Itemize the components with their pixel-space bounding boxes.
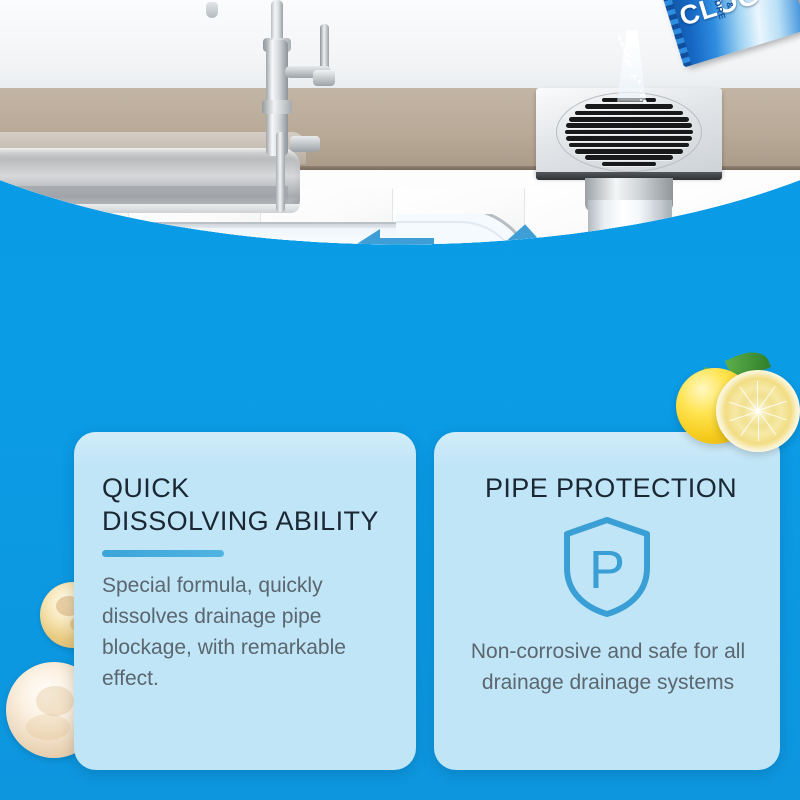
card-body-text: Non-corrosive and safe for all drainage …	[458, 636, 758, 698]
powder-grain	[625, 59, 628, 62]
faucet-handle-stem	[320, 24, 329, 72]
faucet-shutoff-valve	[290, 136, 320, 152]
card-title-line2: DISSOLVING ABILITY	[102, 506, 379, 536]
drain-slot	[566, 136, 692, 141]
feature-card-quick-dissolving[interactable]: QUICK DISSOLVING ABILITY Special formula…	[74, 432, 416, 770]
drain-slot	[575, 111, 682, 116]
drain-slot	[585, 155, 673, 160]
powder-grain	[623, 51, 626, 54]
faucet-handle-knob	[313, 70, 335, 86]
powder-grain	[640, 89, 642, 91]
lemon-segment-line	[758, 411, 759, 441]
powder-grain	[628, 63, 631, 66]
drain-slot	[565, 130, 693, 135]
card-title-line1: QUICK	[102, 473, 190, 503]
card-top-glow	[74, 432, 416, 466]
powder-grain	[642, 94, 646, 98]
powder-grain	[634, 76, 636, 78]
powder-grain	[638, 87, 639, 88]
drain-slot	[602, 162, 656, 167]
card-title: QUICK DISSOLVING ABILITY	[102, 472, 402, 538]
product-feature-graphic: CLOG SINK & POUDRE	[0, 0, 800, 800]
drain-slot	[566, 123, 692, 128]
powder-grain	[633, 78, 634, 79]
faucet-water-drop	[206, 2, 218, 18]
powder-grain	[643, 100, 647, 104]
powder-grain	[621, 43, 624, 46]
feature-card-pipe-protection[interactable]: PIPE PROTECTION P Non-corrosive and safe…	[434, 432, 780, 770]
powder-grain	[625, 55, 627, 57]
shield-p-icon: P	[561, 516, 653, 618]
svg-text:P: P	[589, 540, 625, 600]
drain-slot	[585, 104, 673, 109]
powder-grain	[625, 50, 626, 51]
card-title: PIPE PROTECTION	[456, 472, 766, 505]
powder-grain	[626, 53, 630, 57]
drain-slot	[569, 117, 688, 122]
faucet-base	[262, 100, 292, 114]
drain-slot	[569, 143, 688, 148]
title-underline-rule	[102, 550, 224, 557]
lemon-half	[716, 370, 800, 452]
card-body-text: Special formula, quickly dissolves drain…	[102, 570, 394, 694]
drain-slot	[575, 149, 682, 154]
faucet-supply-tube	[276, 132, 285, 212]
lemon-segment-line	[757, 381, 758, 411]
